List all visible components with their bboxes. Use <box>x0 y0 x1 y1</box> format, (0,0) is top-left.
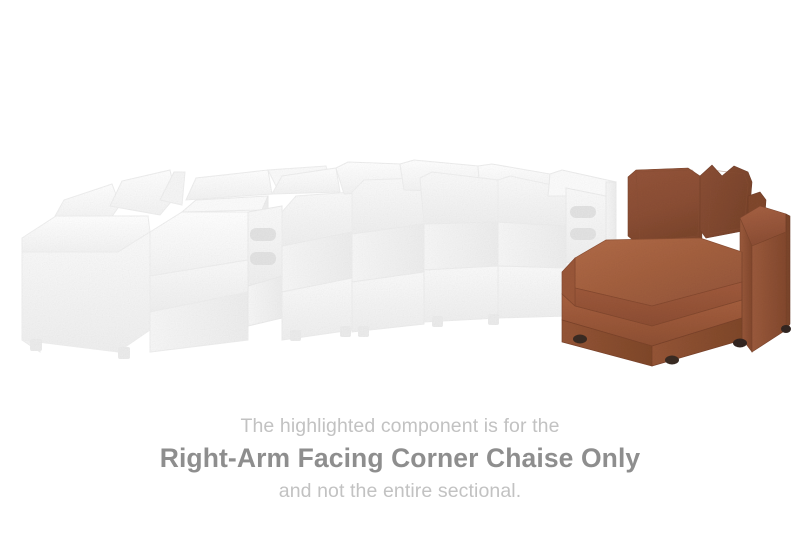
console-cupholder-slot <box>250 252 276 265</box>
product-highlight-card: The highlighted component is for the Rig… <box>0 0 800 533</box>
console-cupholder-slot <box>570 228 596 240</box>
caption-line-disclaimer: and not the entire sectional. <box>0 480 800 503</box>
product-illustration <box>0 0 800 400</box>
chaise-foot <box>781 325 791 333</box>
ghost-armless-chair-right <box>400 160 566 327</box>
chaise-foot <box>573 335 587 344</box>
caption-line-intro: The highlighted component is for the <box>0 415 800 438</box>
caption-component-name: Right-Arm Facing Corner Chaise Only <box>0 443 800 474</box>
caption-block: The highlighted component is for the Rig… <box>0 415 800 503</box>
chaise-foot <box>733 339 747 348</box>
chaise-back-cushion-left <box>628 168 702 246</box>
sectional-sofa-illustration <box>0 0 800 400</box>
ghosted-sectional-group <box>22 160 616 359</box>
console-cupholder-slot <box>250 228 276 241</box>
chaise-right-arm-side <box>752 232 786 352</box>
console-cupholder-slot <box>570 206 596 218</box>
chaise-foot <box>665 356 679 365</box>
